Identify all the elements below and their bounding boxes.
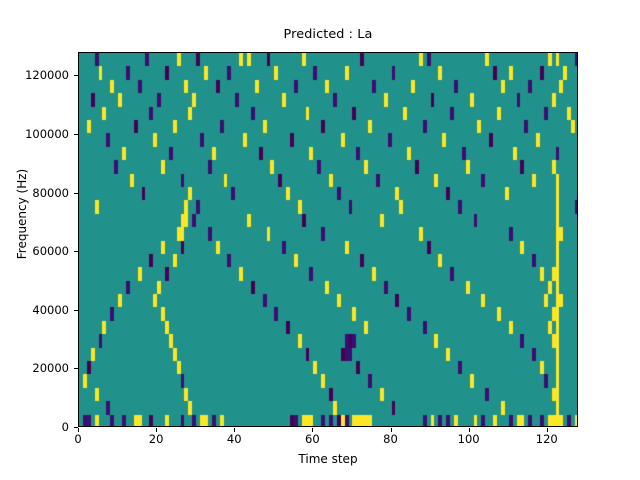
- x-tick-mark: [547, 428, 548, 432]
- x-tick-label: 80: [383, 432, 398, 446]
- x-axis-label: Time step: [78, 452, 578, 466]
- x-tick-mark: [78, 428, 79, 432]
- matplotlib-figure: Predicted : La 0200004000060000800001000…: [0, 0, 640, 480]
- x-tick-label: 0: [74, 432, 81, 446]
- x-tick-mark: [234, 428, 235, 432]
- x-tick-label: 100: [458, 432, 480, 446]
- x-tick-mark: [312, 428, 313, 432]
- x-tick-label: 60: [305, 432, 320, 446]
- y-axis-label: Frequency (Hz): [15, 104, 29, 324]
- x-tick-mark: [469, 428, 470, 432]
- x-tick-mark: [156, 428, 157, 432]
- x-axis-ticks: 020406080100120: [0, 0, 640, 480]
- x-tick-label: 120: [536, 432, 558, 446]
- x-tick-label: 20: [149, 432, 164, 446]
- x-tick-mark: [391, 428, 392, 432]
- x-tick-label: 40: [227, 432, 242, 446]
